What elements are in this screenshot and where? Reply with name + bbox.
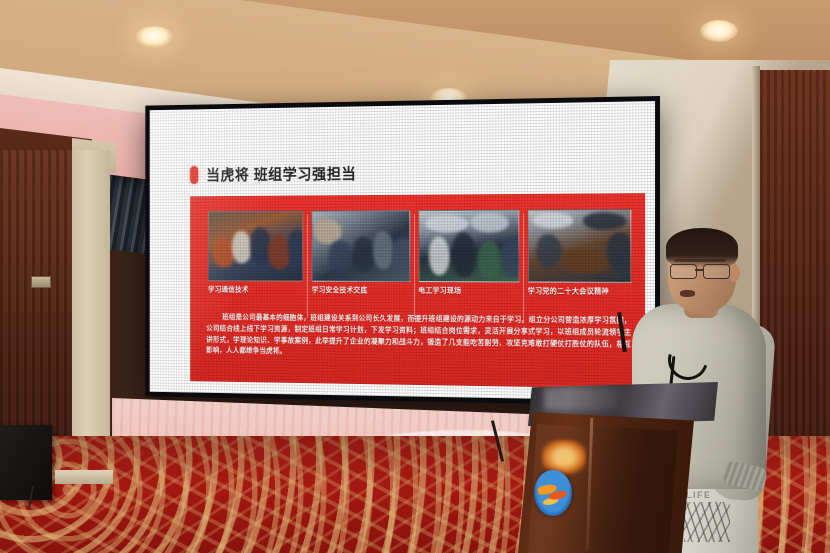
slide-title-row: 当虎将 班组学习强担当	[190, 162, 356, 185]
presentation-slide: 当虎将 班组学习强担当 学习通信技术	[150, 101, 655, 401]
lens-left	[670, 264, 697, 279]
slide-title: 当虎将 班组学习强担当	[206, 162, 356, 184]
company-logo-icon	[534, 470, 572, 516]
lectern-top-glare	[544, 388, 694, 410]
slide-red-panel: 学习通信技术 学习安全技术交底	[190, 193, 645, 389]
photo-caption: 学习党的二十大会议精神	[528, 286, 612, 296]
lens-right	[703, 264, 730, 279]
photo-thumbnail	[418, 210, 519, 283]
glasses-bridge	[695, 269, 703, 271]
photo-thumbnail	[312, 210, 410, 282]
lectern	[518, 382, 723, 553]
eyeglasses-icon	[670, 264, 732, 277]
photo-thumbnail	[208, 211, 304, 282]
presenter-mouth	[680, 290, 695, 297]
downlight-icon	[700, 20, 738, 42]
photo-cell: 电工学习现场	[418, 210, 519, 304]
led-screen: 当虎将 班组学习强担当 学习通信技术	[150, 101, 655, 401]
title-bullet-icon	[190, 166, 198, 184]
speaker-cabinet	[0, 425, 52, 500]
slide-body-text: 班组是公司最基本的细胞体，班组建设关系到公司长久发展，而提升班组建设的源动力来自…	[206, 311, 631, 361]
photo-caption: 学习安全技术交底	[312, 285, 410, 294]
presenter-hair	[666, 228, 738, 268]
photo-caption: 学习通信技术	[208, 285, 304, 294]
presenter-brow	[674, 259, 726, 262]
conference-hall-photo: 当虎将 班组学习强担当 学习通信技术	[0, 0, 830, 553]
photo-cell: 学习安全技术交底	[312, 210, 410, 303]
photo-cell: 学习党的二十大会议精神	[528, 209, 632, 305]
photo-cell: 学习通信技术	[208, 211, 304, 303]
photo-divider	[523, 214, 524, 320]
photo-divider	[414, 214, 415, 319]
photo-thumbnail	[528, 209, 632, 283]
logo-flame-mark	[536, 477, 569, 510]
wall-baseboard	[55, 470, 113, 484]
led-screen-frame: 当虎将 班组学习强担当 学习通信技术	[145, 96, 660, 406]
light-switch-plate[interactable]	[31, 276, 51, 288]
lectern-reading-lamp	[542, 440, 586, 474]
photo-divider	[307, 215, 308, 318]
photo-strip: 学习通信技术 学习安全技术交底	[208, 209, 631, 305]
downlight-icon	[135, 26, 173, 48]
photo-caption: 电工学习现场	[418, 286, 519, 296]
